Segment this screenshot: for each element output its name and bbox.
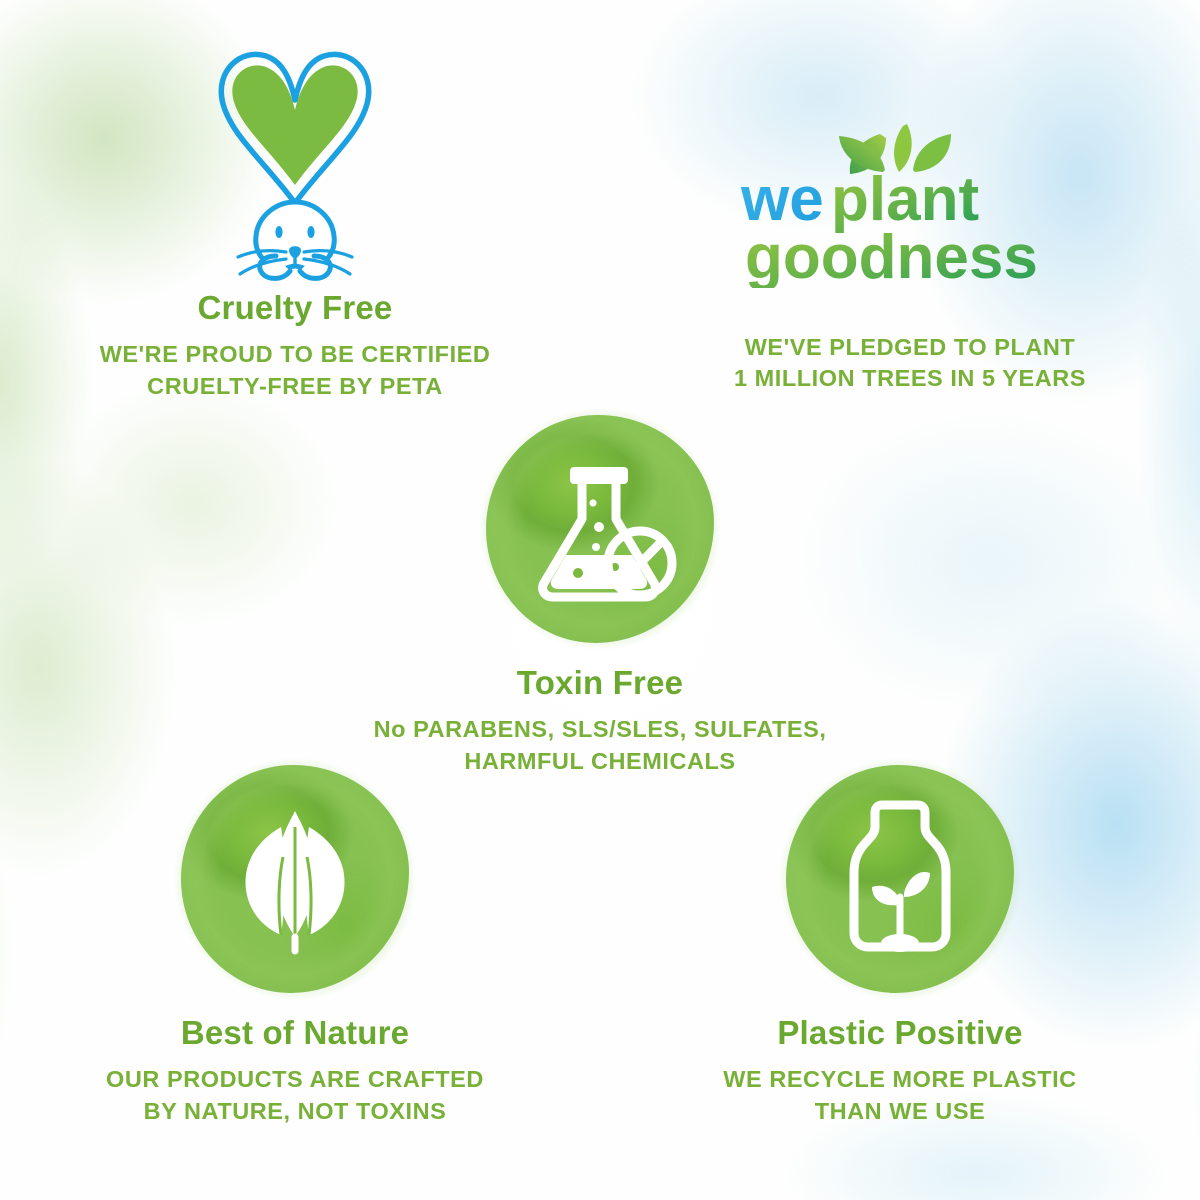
- three-leaves-icon: [181, 765, 409, 993]
- best-of-nature-badge-wrap: [10, 765, 580, 993]
- logo-word-goodness: goodness: [745, 223, 1038, 288]
- infographic-canvas: Cruelty Free WE'RE PROUD TO BE CERTIFIED…: [0, 0, 1200, 1200]
- plastic-positive-badge: [786, 765, 1014, 993]
- toxin-free-badge: [486, 415, 714, 643]
- best-of-nature-title: Best of Nature: [10, 1015, 580, 1051]
- bottle-with-sprout-icon: [786, 765, 1014, 993]
- toxin-free-title: Toxin Free: [315, 665, 885, 701]
- feature-best-of-nature: Best of Nature OUR PRODUCTS ARE CRAFTED …: [10, 765, 580, 1127]
- feature-cruelty-free: Cruelty Free WE'RE PROUD TO BE CERTIFIED…: [10, 40, 580, 402]
- cruelty-free-title: Cruelty Free: [10, 290, 580, 326]
- feature-toxin-free: Toxin Free No PARABENS, SLS/SLES, SULFAT…: [315, 415, 885, 777]
- feature-plastic-positive: Plastic Positive WE RECYCLE MORE PLASTIC…: [620, 765, 1180, 1127]
- cruelty-free-description: WE'RE PROUD TO BE CERTIFIED CRUELTY-FREE…: [10, 339, 580, 402]
- plant-goodness-description: WE'VE PLEDGED TO PLANT 1 MILLION TREES I…: [630, 332, 1190, 395]
- flask-no-toxins-icon: [486, 415, 714, 643]
- plastic-positive-title: Plastic Positive: [620, 1015, 1180, 1051]
- best-of-nature-badge: [181, 765, 409, 993]
- plastic-positive-badge-wrap: [620, 765, 1180, 993]
- we-plant-goodness-sprout-logo: we plant goodness: [735, 120, 1085, 288]
- best-of-nature-description: OUR PRODUCTS ARE CRAFTED BY NATURE, NOT …: [10, 1064, 580, 1127]
- peta-cruelty-free-bunny-heart-logo: [190, 40, 400, 290]
- toxin-free-badge-wrap: [315, 415, 885, 643]
- cruelty-free-logo-wrap: [10, 40, 580, 290]
- plastic-positive-description: WE RECYCLE MORE PLASTIC THAN WE USE: [620, 1064, 1180, 1127]
- plant-goodness-logo-wrap: we plant goodness: [630, 120, 1190, 288]
- feature-plant-goodness: we plant goodness WE'VE PLEDGED TO PLANT…: [630, 120, 1190, 395]
